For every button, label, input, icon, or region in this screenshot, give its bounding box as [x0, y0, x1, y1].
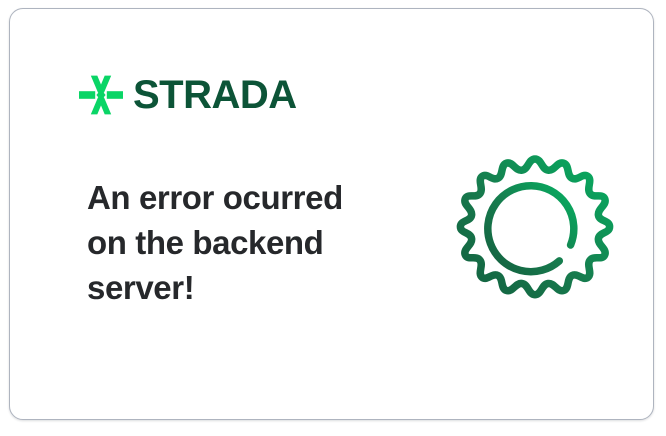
brand-wordmark: STRADA — [133, 75, 297, 115]
brand-lockup: STRADA — [79, 73, 297, 117]
error-message: An error ocurred on the backend server! — [87, 175, 387, 310]
strada-asterisk-icon — [79, 73, 123, 117]
error-page: STRADA An error ocurred on the backend s… — [0, 0, 666, 436]
error-card: STRADA An error ocurred on the backend s… — [9, 8, 654, 420]
